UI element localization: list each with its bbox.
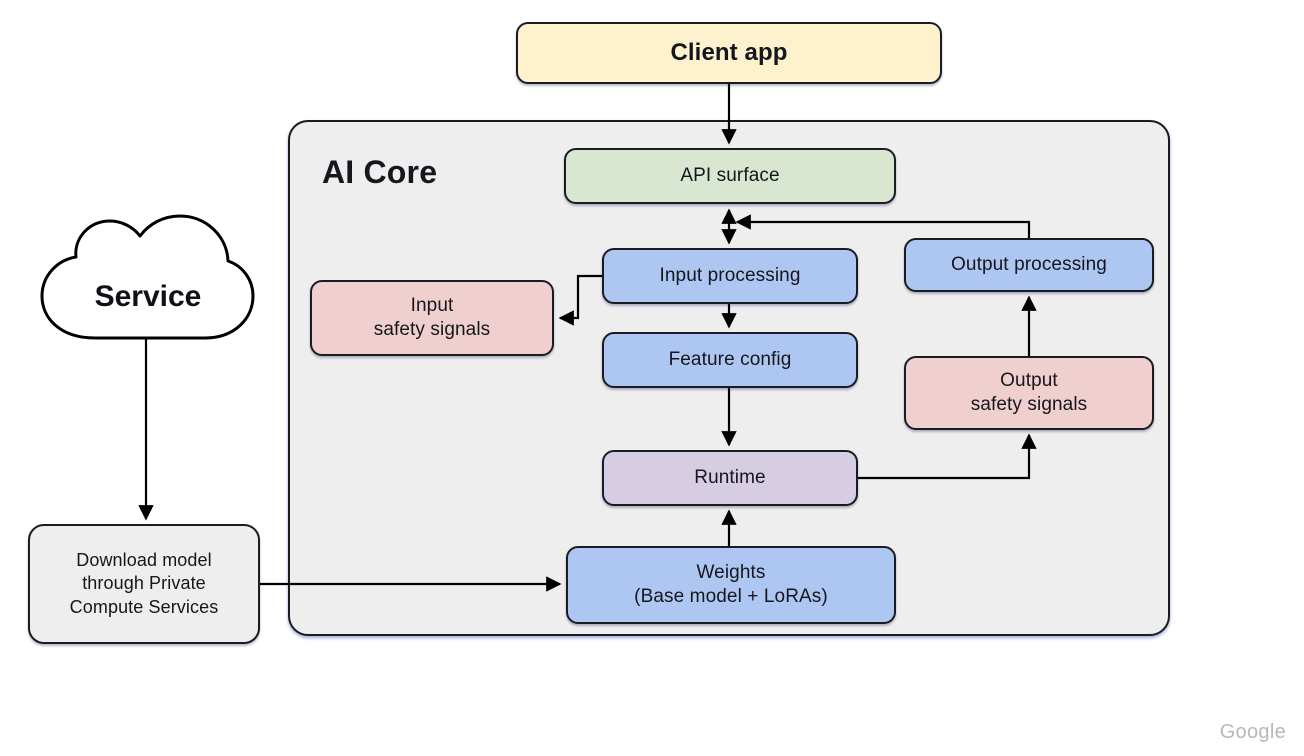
node-input-safety-signals[interactable]: Input safety signals [310, 280, 554, 356]
node-runtime[interactable]: Runtime [602, 450, 858, 506]
node-output-safety-signals[interactable]: Output safety signals [904, 356, 1154, 430]
node-api-surface-label: API surface [674, 164, 785, 188]
node-client-app-label: Client app [664, 38, 793, 69]
edge-input-processing-to-input-safety [560, 276, 602, 318]
node-output-safety-signals-label: Output safety signals [965, 369, 1094, 418]
node-input-processing[interactable]: Input processing [602, 248, 858, 304]
node-feature-config[interactable]: Feature config [602, 332, 858, 388]
edge-output-processing-to-api [737, 222, 1029, 238]
node-download-model[interactable]: Download model through Private Compute S… [28, 524, 260, 644]
node-input-processing-label: Input processing [653, 264, 806, 288]
node-client-app[interactable]: Client app [516, 22, 942, 84]
node-api-surface[interactable]: API surface [564, 148, 896, 204]
node-output-processing[interactable]: Output processing [904, 238, 1154, 292]
node-download-model-label: Download model through Private Compute S… [64, 549, 225, 618]
node-input-safety-signals-label: Input safety signals [368, 294, 497, 343]
diagram-canvas: AI Core Service [0, 0, 1304, 756]
edge-runtime-to-output-safety [858, 435, 1029, 478]
google-watermark: Google [1220, 721, 1286, 744]
node-weights-label: Weights (Base model + LoRAs) [628, 561, 834, 610]
node-feature-config-label: Feature config [663, 348, 798, 372]
node-weights[interactable]: Weights (Base model + LoRAs) [566, 546, 896, 624]
node-runtime-label: Runtime [688, 466, 771, 490]
node-output-processing-label: Output processing [945, 253, 1113, 277]
